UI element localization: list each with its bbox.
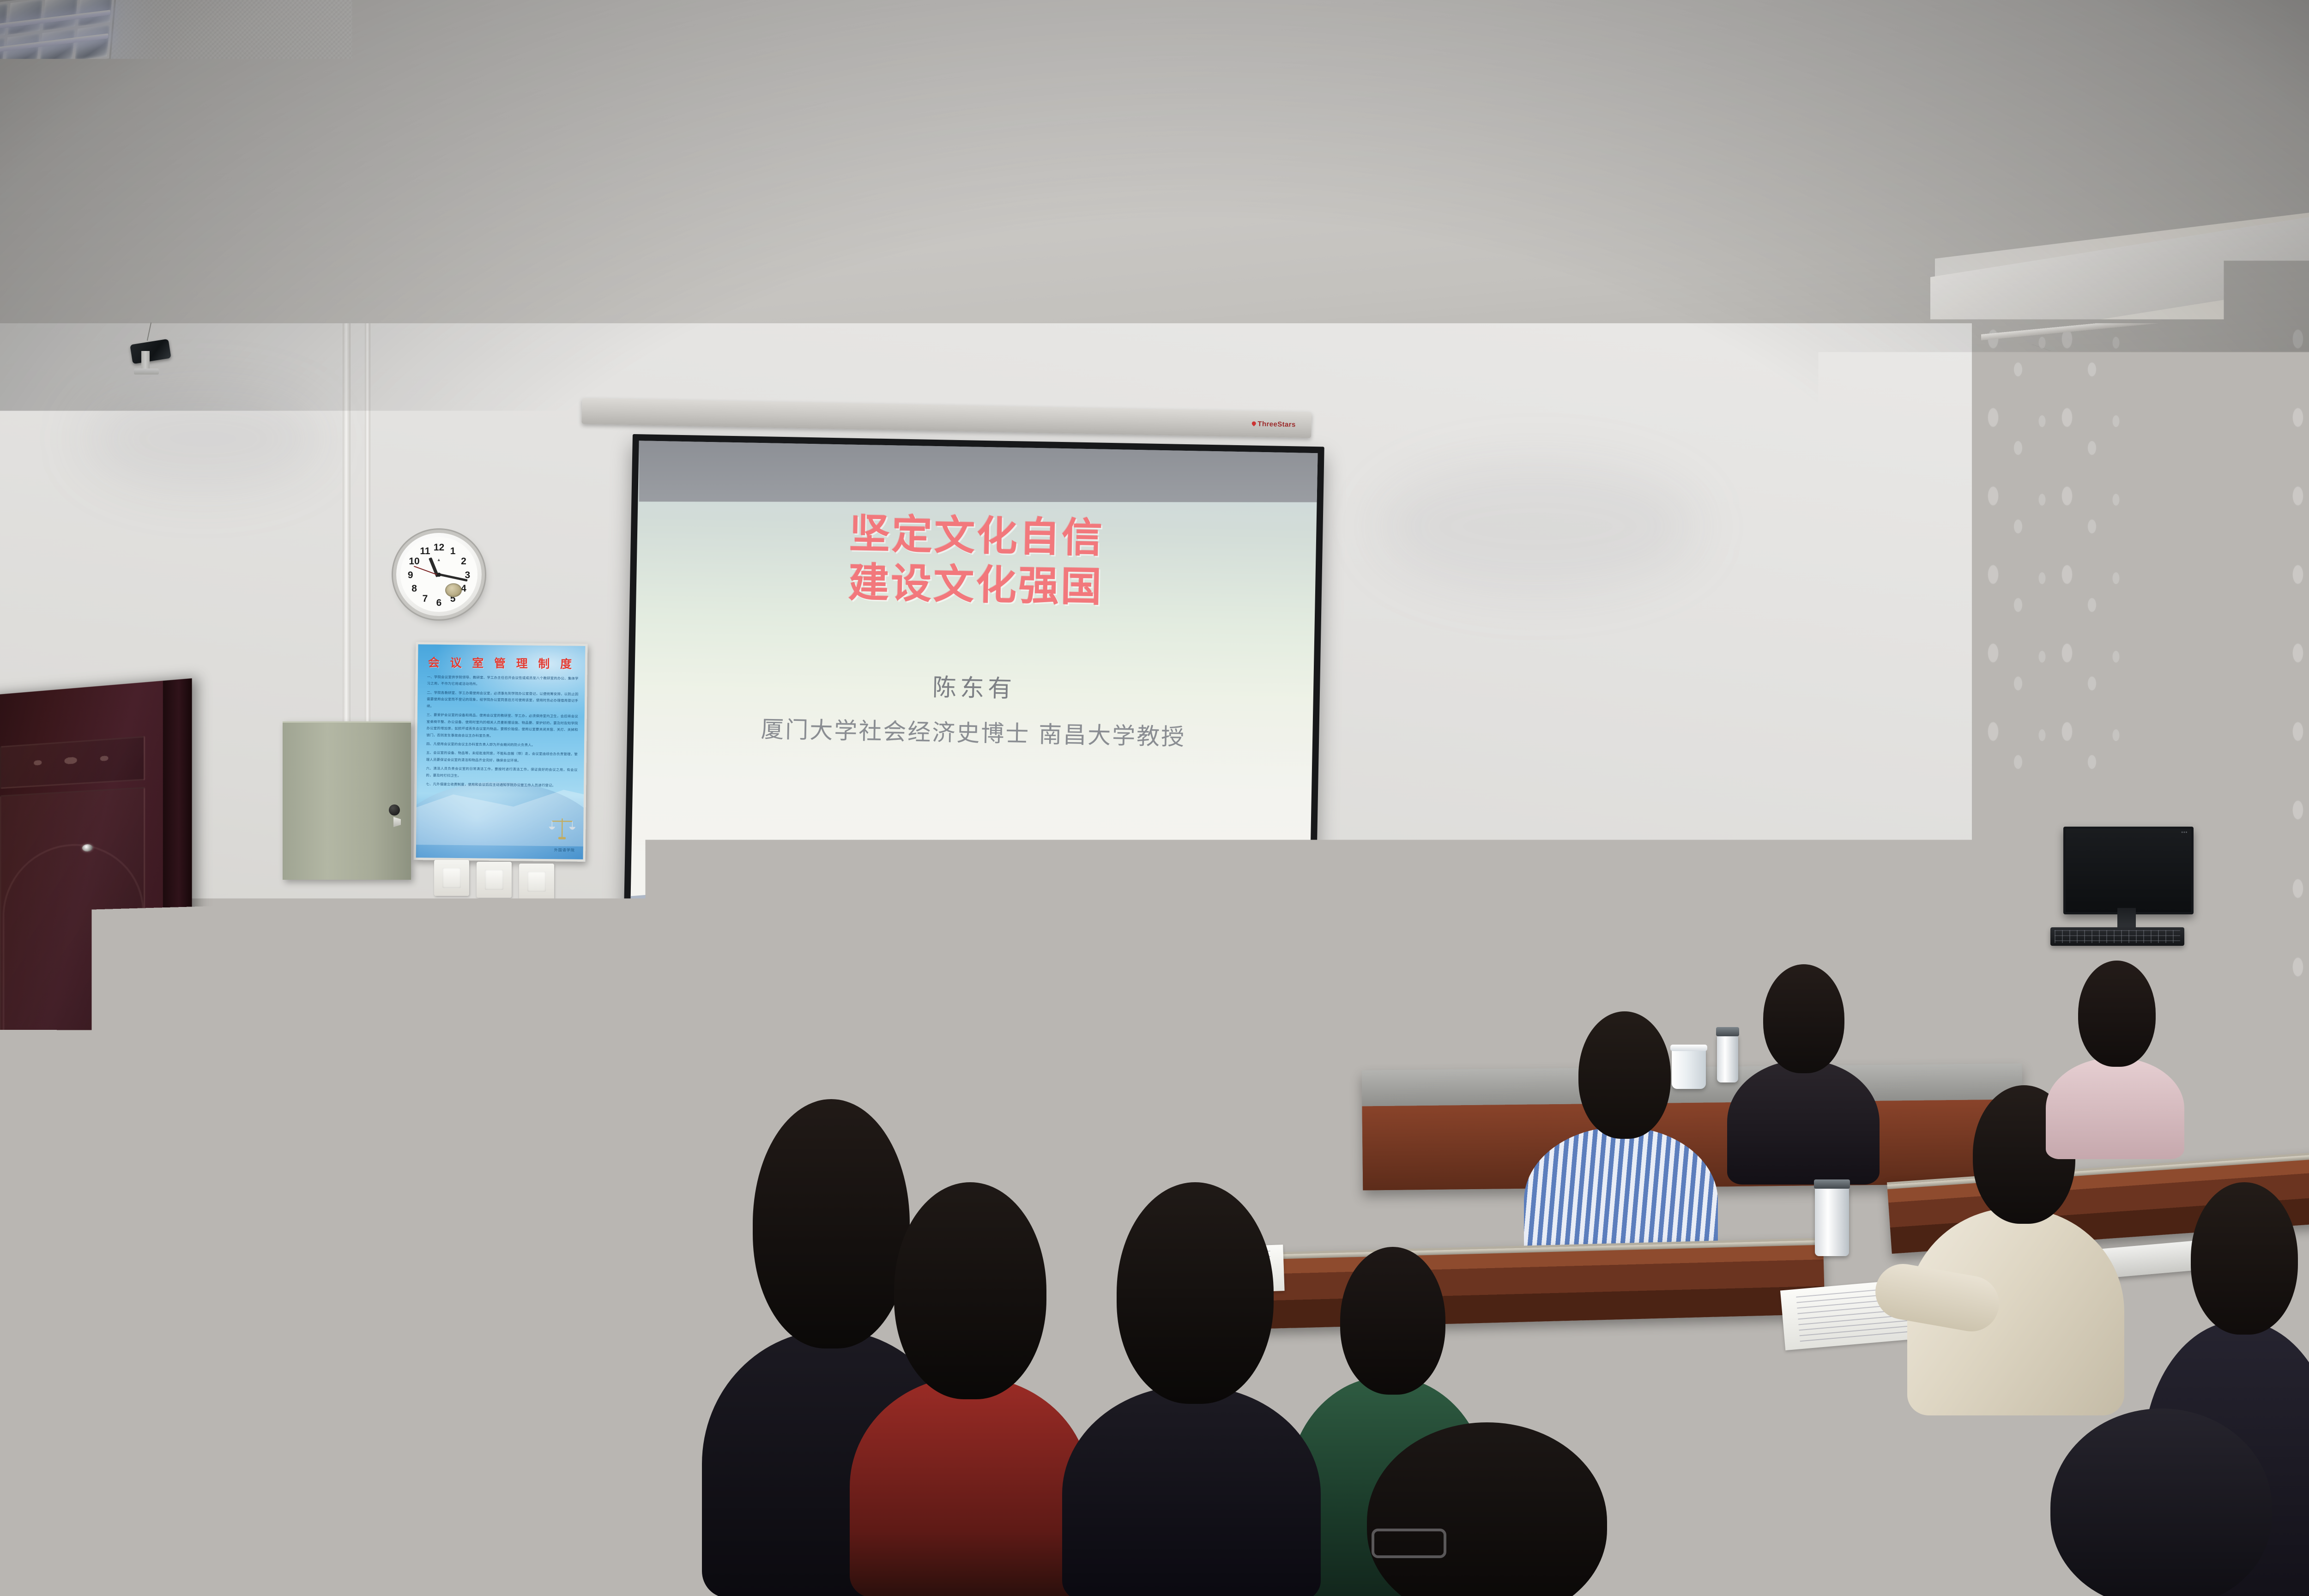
ac-control-panel[interactable] [1922,951,1944,969]
person-head [296,1376,513,1596]
projection-screen-surface: 坚定文化自信 建设文化强国 陈东有 厦门大学社会经济史博士 南昌大学教授 [629,441,1318,970]
thermos-cap [1716,1027,1739,1036]
curtain-grommet [2034,352,2054,366]
screen-dead-band [639,441,1318,502]
clock-number-9: 9 [408,570,413,581]
light-switch-2[interactable] [477,862,512,898]
fan-downrod [419,71,426,151]
person-glasses-icon [1372,1529,1446,1558]
audience-person-bottom-far-right [1672,1473,1958,1596]
projector-mount-pole [1165,171,1181,270]
wall-clock: 12 1 2 3 4 5 6 7 8 9 10 11 ▲ [396,533,482,616]
ac-brand-logo-icon [1885,903,1907,912]
keyboard-keys [2055,930,2180,943]
person-head [1340,1247,1445,1395]
slide-presenter-affiliation: 厦门大学社会经济史博士 南昌大学教授 [634,708,1313,754]
door-arch-moulding [3,841,145,1143]
person-head [2078,961,2156,1067]
audience-person-blue-stripe-center [1524,1011,1718,1270]
switch-rocker-icon[interactable] [527,871,546,892]
ac-display-value: 22 [1927,920,1939,931]
switch-rocker-icon[interactable] [442,868,461,888]
audience-person-far-right-top [2272,937,2309,1122]
curtain-grommet [2124,340,2145,354]
person-head [1059,997,1135,1097]
clock-number-6: 6 [436,598,442,609]
clock-number-2: 2 [461,556,466,567]
audience-person-black-lace [1727,961,1880,1182]
scales-of-justice-icon [548,815,576,843]
poster-item: 七、凡外借建立收费制度，使用和会议后应主动通知学院办公室工作人员进行登记。 [426,781,577,789]
curtain-grommet [1989,358,2009,372]
poster-org-label: 外国语学院 [554,847,575,852]
fan-canopy [413,39,432,74]
poster-item: 五、会议室的设备、物品等，未经批准同意，不能私自搬（带）走，会议室由综合办负责管… [426,750,578,765]
clock-subdial [445,583,462,597]
meeting-room-rules-poster: 会 议 室 管 理 制 度 一、学院会议室供学院领导、教研室、学工办主任召开会议… [414,642,588,862]
person-head [1763,964,1844,1073]
person-head [1117,1182,1274,1404]
clock-center-pin [437,573,441,577]
lecture-hall-photo: ThreeStars 坚定文化自信 建设文化强国 陈东有 厦门大学社会经济史博士… [0,0,2309,1596]
audience-person-front-right-center [1062,1182,1321,1596]
speaker-hair [1518,933,1582,963]
poster-item: 四、凡使用会议室的会议主办科室负责人即为开会期间的防火负责人。 [426,741,578,749]
person-head [2296,937,2309,1042]
ac-air-grille [1883,809,1983,886]
security-camera-icon [130,339,171,364]
ac-energy-label [1967,899,1984,927]
fan-canopy [1591,157,1609,187]
curtain-panel-left[interactable] [1981,323,2129,1021]
person-head [1699,1473,1898,1596]
person-head [332,1030,434,1159]
clock-brand-mark: ▲ [437,557,441,562]
poster-item: 三、要爱护会议室的设备和用品，使用会议室的教研室、学工办，必须保持室内卫生，会后… [426,712,578,740]
audience-person-bottom-center [1339,1422,1690,1596]
slide-hill-graphic [629,853,1318,970]
person-head [1367,1422,1607,1596]
poster-item: 六、清洁人员负责会议室的日常清洁工作，要按时进行清洁工作，保证良好的会议之用，有… [426,766,577,780]
electrical-panel-box[interactable] [283,721,411,880]
panel-knob-icon[interactable] [389,804,400,816]
person-head [1220,1009,1303,1124]
curtain-panel-right[interactable] [2286,323,2309,997]
audience-person-blue-back [286,1030,480,1261]
audience-person-bottom-right [1995,1409,2309,1596]
light-switch-1[interactable] [434,860,469,896]
person-torso [1727,1060,1880,1185]
slide-presenter-name: 陈东有 [635,662,1314,709]
clock-number-7: 7 [423,593,428,605]
clock-number-8: 8 [411,583,417,594]
person-head [2191,1182,2298,1335]
screen-brand-label: ThreeStars [1251,420,1296,429]
curtain-pattern [1981,323,2129,1021]
clock-face: 12 1 2 3 4 5 6 7 8 9 10 11 ▲ [400,537,478,612]
person-head [1578,1011,1671,1139]
projection-screen: 坚定文化自信 建设文化强国 陈东有 厦门大学社会经济史博士 南昌大学教授 [623,434,1324,977]
wall-conduit-vertical-2 [365,323,370,730]
ceiling-light-center [854,112,1062,185]
curtain-grommet [2291,326,2309,340]
monitor-stand [2117,908,2136,929]
thermos-flask-right[interactable] [1815,1187,1849,1256]
light-switch-3[interactable] [519,864,554,900]
switch-rocker-icon[interactable] [485,870,503,890]
ceiling-fan-left [365,39,480,214]
curtain-grommet [2079,346,2099,360]
fan-bottom-knob [1595,278,1606,289]
curtain-pattern [2286,323,2309,997]
clock-number-1: 1 [450,546,456,557]
audience-person-striped-shirt [1011,991,1178,1208]
bottle-cap [792,1080,802,1088]
fan-trim-band [399,162,447,168]
fan-bottom-knob [416,177,429,190]
door-handle[interactable] [0,1065,12,1072]
slide-title: 坚定文化自信 建设文化强国 [636,505,1317,615]
brand-mark-icon [1251,421,1257,427]
fan-trim-band [1579,264,1621,270]
audience-person-front-red-top [850,1182,1090,1596]
person-torso [2272,1030,2309,1127]
poster-title: 会 议 室 管 理 制 度 [418,653,585,672]
audience-person-pink-top [2046,961,2184,1155]
monitor-brand-label: ●●● [2181,831,2188,834]
clock-number-11: 11 [420,546,430,557]
poster-item: 二、学院各教研室、学工办需使用会议室，必须事先到学院办公室登记，以便统筹安排，以… [427,689,578,711]
curtain-grommet [2170,334,2190,348]
person-head [2050,1409,2272,1596]
panel-latch-icon[interactable] [393,817,401,827]
computer-monitor[interactable]: ●●● [2063,827,2194,914]
ac-display: 22 [1922,901,1943,950]
camera-base-plate [134,369,159,375]
person-torso [1062,1385,1321,1596]
wall-conduit-vertical [343,323,351,730]
computer-keyboard[interactable] [2050,927,2184,946]
poster-item: 一、学院会议室供学院领导、教研室、学工办主任召开会议性或成员至八个教研室的办公、… [427,674,578,689]
clock-number-12: 12 [434,542,444,553]
clock-number-4: 4 [461,583,466,594]
speaker-glasses-icon [1525,963,1576,974]
thermos-flask-left[interactable] [1717,1034,1738,1082]
security-camera [128,333,171,376]
person-torso [2046,1058,2184,1159]
thermos-cap [1814,1179,1850,1189]
poster-body: 一、学院会议室供学院领导、教研室、学工办主任召开会议性或成员至八个教研室的办公、… [426,674,579,792]
clock-minute-hand [439,574,468,582]
fan-downrod [1597,185,1603,254]
audience-person-bottom-left [259,1376,582,1596]
person-head [894,1182,1046,1399]
person-torso [850,1376,1090,1596]
ceiling-fan-right [1547,157,1653,314]
